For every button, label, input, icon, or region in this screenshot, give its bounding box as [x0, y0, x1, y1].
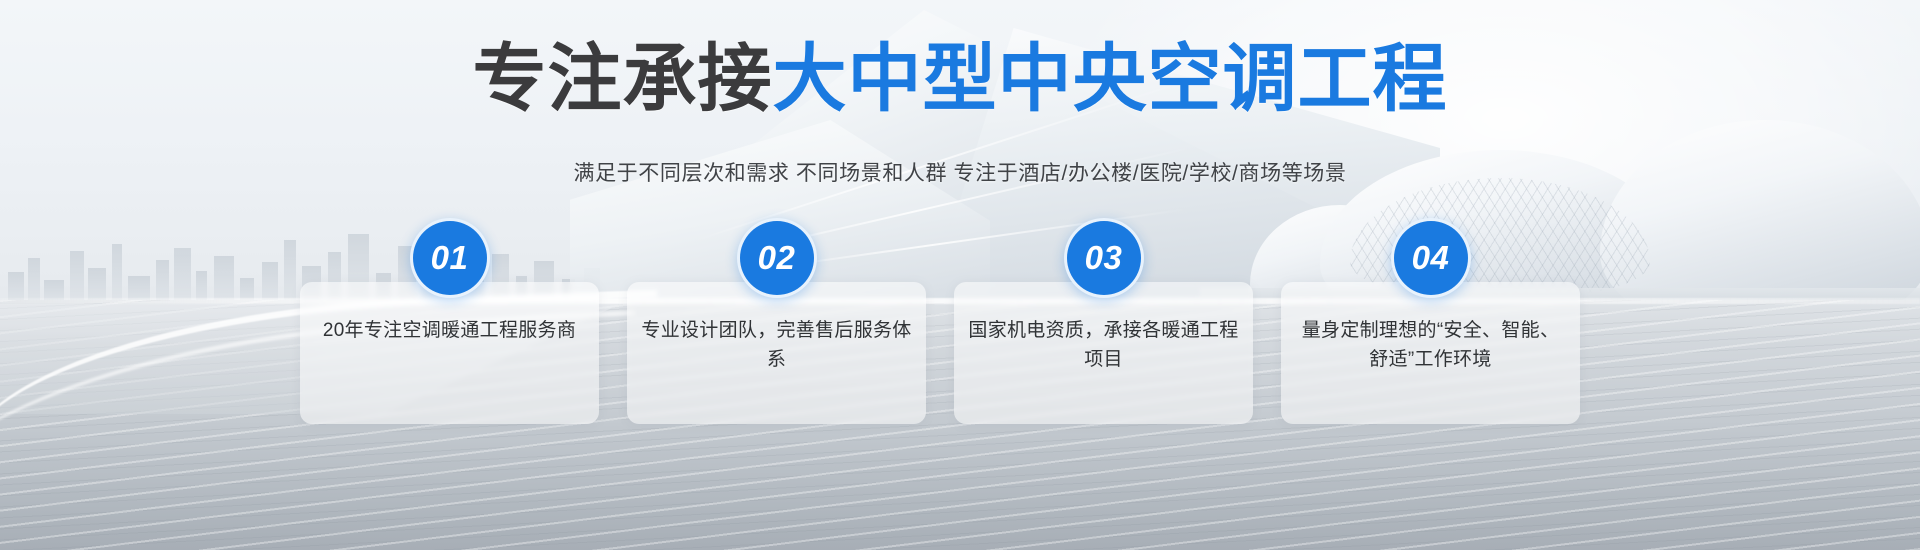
feature-number-badge-04: 04 — [1391, 218, 1471, 298]
feature-card-01[interactable]: 01 20年专注空调暖通工程服务商 — [300, 282, 599, 424]
feature-number-badge-02: 02 — [737, 218, 817, 298]
feature-card-text-03: 国家机电资质，承接各暖通工程项目 — [968, 316, 1239, 375]
feature-card-02[interactable]: 02 专业设计团队，完善售后服务体系 — [627, 282, 926, 424]
feature-card-04[interactable]: 04 量身定制理想的“安全、智能、舒适”工作环境 — [1281, 282, 1580, 424]
feature-number-badge-03: 03 — [1064, 218, 1144, 298]
feature-card-text-04: 量身定制理想的“安全、智能、舒适”工作环境 — [1295, 316, 1566, 375]
headline-accent-text: 大中型中央空调工程 — [773, 37, 1448, 120]
feature-card-text-02: 专业设计团队，完善售后服务体系 — [641, 316, 912, 375]
banner-subtitle: 满足于不同层次和需求 不同场景和人群 专注于酒店/办公楼/医院/学校/商场等场景 — [0, 157, 1920, 187]
feature-number-badge-01: 01 — [410, 218, 490, 298]
feature-card-text-01: 20年专注空调暖通工程服务商 — [314, 316, 585, 345]
feature-card-03[interactable]: 03 国家机电资质，承接各暖通工程项目 — [954, 282, 1253, 424]
banner-headline: 专注承接大中型中央空调工程 — [0, 42, 1920, 116]
hero-banner: 专注承接大中型中央空调工程 满足于不同层次和需求 不同场景和人群 专注于酒店/办… — [0, 0, 1920, 550]
feature-card-list: 01 20年专注空调暖通工程服务商 02 专业设计团队，完善售后服务体系 03 … — [300, 282, 1580, 432]
headline-dark-text: 专注承接 — [473, 37, 773, 120]
